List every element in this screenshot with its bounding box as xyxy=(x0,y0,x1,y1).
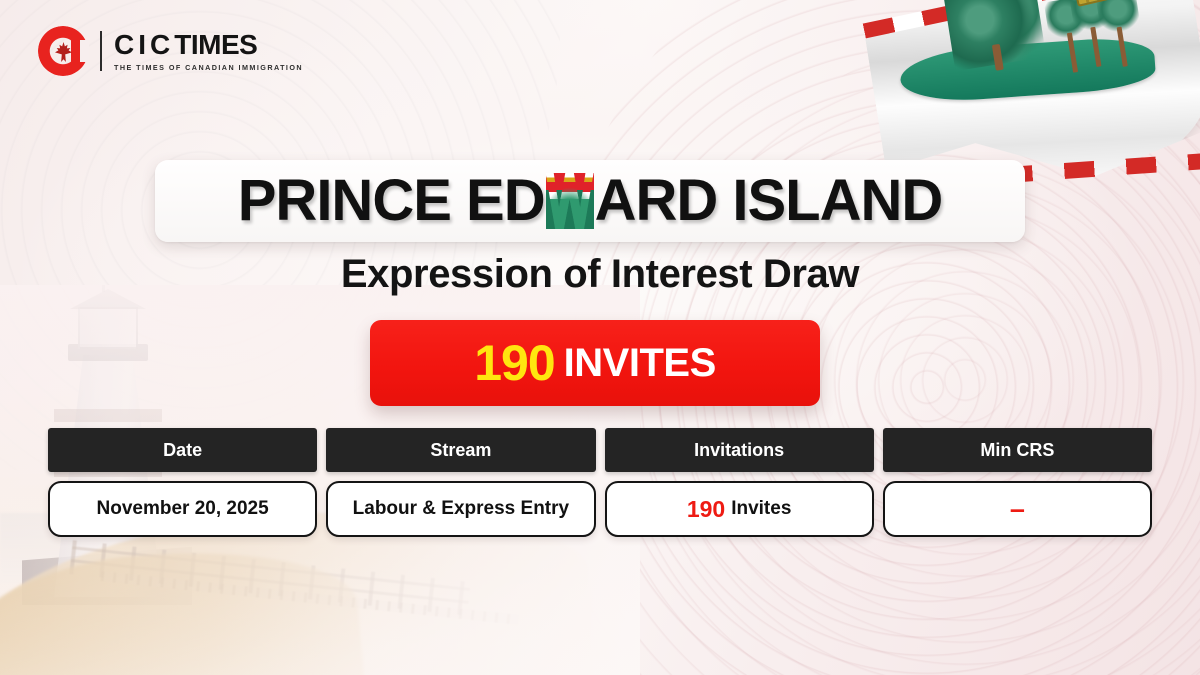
table-header-stream: Stream xyxy=(326,428,595,472)
table-header-row: Date Stream Invitations Min CRS xyxy=(48,428,1152,472)
logo-tagline: THE TIMES OF CANADIAN IMMIGRATION xyxy=(114,63,303,72)
logo-wordmark: CICTIMES THE TIMES OF CANADIAN IMMIGRATI… xyxy=(114,31,303,72)
cic-times-logo[interactable]: CICTIMES THE TIMES OF CANADIAN IMMIGRATI… xyxy=(38,26,303,76)
table-cell-min-crs-value: – xyxy=(1010,501,1025,517)
logo-divider xyxy=(100,31,102,71)
table-cell-invitations-number: 190 xyxy=(687,496,725,523)
table-cell-date: November 20, 2025 xyxy=(48,481,317,537)
invites-banner: 190 INVITES xyxy=(370,320,820,406)
pei-flag-letter-w-icon xyxy=(546,173,594,229)
logo-title-part1: CIC xyxy=(114,29,174,60)
table-cell-invitations: 190 Invites xyxy=(605,481,874,537)
invites-banner-label: INVITES xyxy=(564,343,716,383)
page-title: PRINCE ED ARD ISLAND xyxy=(238,172,943,230)
page-subtitle: Expression of Interest Draw xyxy=(0,252,1200,297)
draw-details-table: Date Stream Invitations Min CRS November… xyxy=(48,428,1152,537)
page-title-plate: PRINCE ED ARD ISLAND xyxy=(155,160,1025,242)
invites-banner-count: 190 xyxy=(474,338,554,388)
table-header-date: Date xyxy=(48,428,317,472)
page-title-before: PRINCE ED xyxy=(238,172,545,230)
logo-title-part2: TIMES xyxy=(174,29,257,60)
table-header-invitations: Invitations xyxy=(605,428,874,472)
table-cell-invitations-label: Invites xyxy=(731,498,791,520)
page-title-after: ARD ISLAND xyxy=(595,172,943,230)
poster-canvas: CICTIMES THE TIMES OF CANADIAN IMMIGRATI… xyxy=(0,0,1200,675)
cic-circle-maple-leaf-logo-icon xyxy=(38,26,88,76)
flag-w-fill xyxy=(546,173,594,229)
logo-bar xyxy=(71,34,80,68)
table-cell-min-crs: – xyxy=(883,481,1152,537)
table-row: November 20, 2025 Labour & Express Entry… xyxy=(48,481,1152,537)
table-header-min-crs: Min CRS xyxy=(883,428,1152,472)
table-cell-stream: Labour & Express Entry xyxy=(326,481,595,537)
logo-title: CICTIMES xyxy=(114,31,303,59)
